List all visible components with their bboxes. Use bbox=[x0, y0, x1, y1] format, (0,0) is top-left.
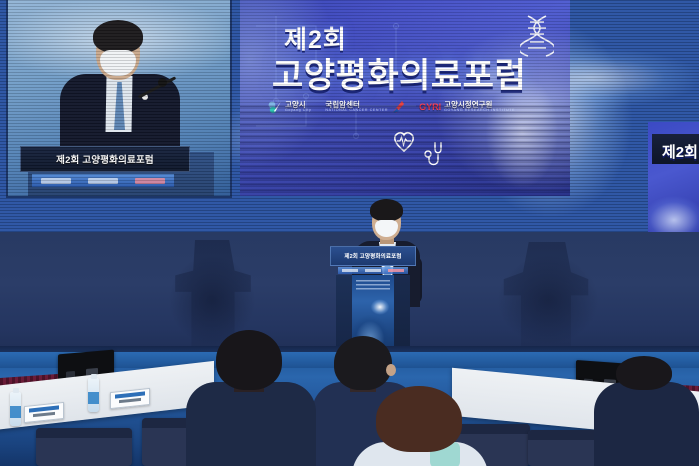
attendee-body bbox=[594, 382, 699, 466]
attendee-right bbox=[352, 386, 488, 466]
chair-backrest bbox=[36, 428, 132, 438]
left-screen-scanlines bbox=[8, 0, 230, 196]
water-bottle bbox=[88, 378, 99, 412]
attendee-far-right bbox=[594, 356, 699, 466]
podium-sign-text: 제2회 고양평화의료포럼 bbox=[344, 252, 401, 260]
placard-title-line bbox=[33, 412, 55, 417]
water-bottle bbox=[10, 392, 21, 426]
audience-chair bbox=[36, 428, 132, 466]
podium-sponsor-mark-2 bbox=[365, 269, 381, 272]
attendee-left bbox=[186, 330, 316, 466]
right-screen-edition-text: 제2회 bbox=[662, 141, 698, 162]
attendee-head bbox=[334, 336, 392, 390]
left-projection-screen: 제2회 고양평화의료포럼 bbox=[8, 0, 230, 196]
conference-photo: 제2회 고양평화의료포럼 bbox=[0, 0, 699, 466]
podium-banner-text-lines bbox=[356, 280, 390, 290]
placard-title-line bbox=[119, 398, 141, 403]
right-screen-glow bbox=[648, 180, 699, 232]
podium-sign: 제2회 고양평화의료포럼 bbox=[330, 246, 416, 266]
podium-sponsor-strip bbox=[338, 267, 408, 274]
attendee-head bbox=[376, 386, 462, 452]
attendee-head bbox=[216, 330, 282, 390]
attendee-ear bbox=[386, 364, 396, 376]
attendee-body bbox=[186, 382, 316, 466]
attendee-head bbox=[616, 356, 672, 390]
center-screen-scanlines bbox=[240, 0, 570, 196]
center-main-screen: 제2회 고양평화의료포럼 고양시 Goyang City 국립암센터 NATIO… bbox=[240, 0, 570, 196]
speaker-hair bbox=[370, 199, 403, 221]
right-screen-title-bar: 제2회 bbox=[652, 134, 699, 164]
podium-sponsor-mark-1 bbox=[342, 269, 358, 272]
podium-sponsor-mark-3 bbox=[388, 269, 404, 272]
right-projection-screen: 제2회 bbox=[648, 122, 699, 232]
